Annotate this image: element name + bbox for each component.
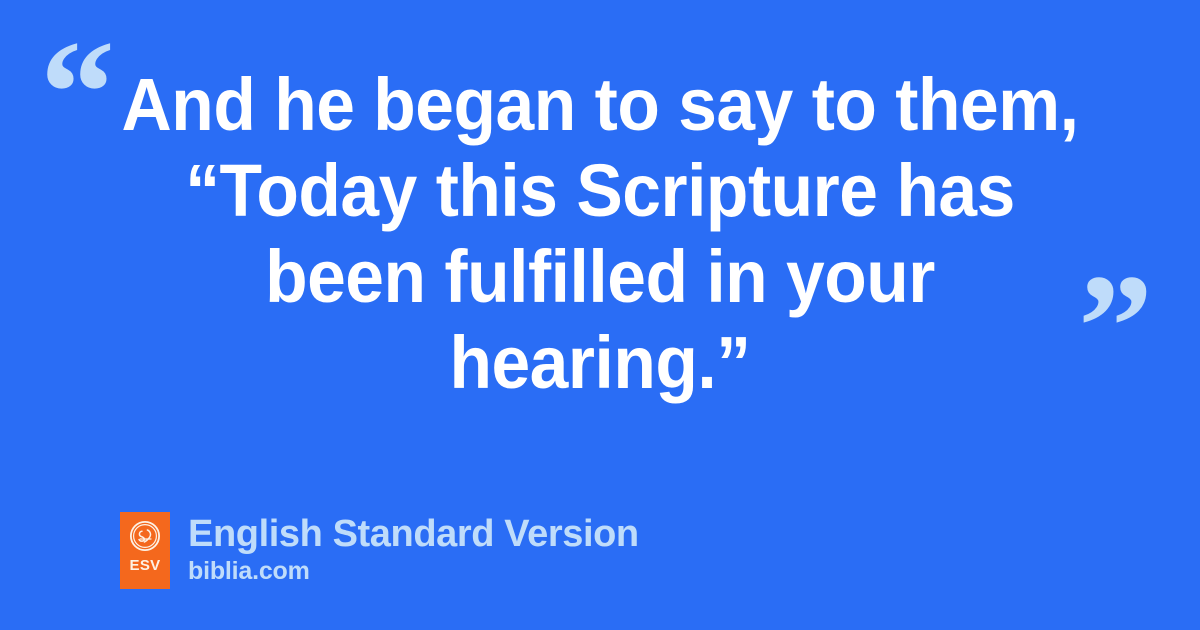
- esv-logo-label: ESV: [130, 558, 161, 573]
- esv-logo-badge: ESV: [120, 512, 170, 589]
- attribution-footer: ESV English Standard Version biblia.com: [120, 512, 639, 589]
- attribution-text-group: English Standard Version biblia.com: [188, 512, 639, 586]
- verse-line-2: “Today this Scripture has: [92, 148, 1107, 234]
- verse-line-3: been fulfilled in your: [92, 234, 1107, 320]
- esv-seal-emblem-icon: [130, 521, 160, 551]
- quote-image-card: “ ” And he began to say to them, “Today …: [0, 0, 1200, 630]
- verse-line-4: hearing.”: [92, 320, 1107, 406]
- verse-text-block: And he began to say to them, “Today this…: [60, 62, 1140, 406]
- bible-version-name: English Standard Version: [188, 513, 639, 555]
- source-site-name: biblia.com: [188, 557, 639, 586]
- verse-line-1: And he began to say to them,: [92, 62, 1107, 148]
